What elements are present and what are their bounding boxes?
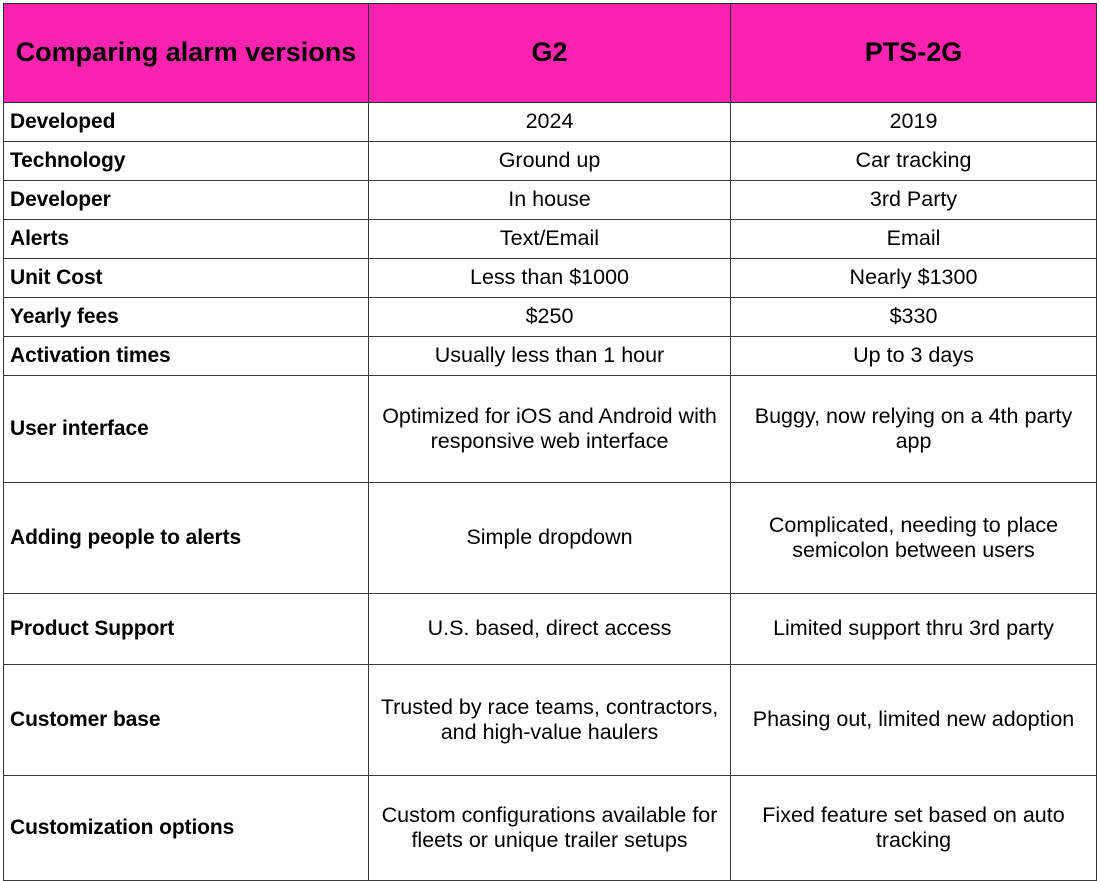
table-row: User interface Optimized for iOS and And… xyxy=(4,376,1097,483)
feature-label-activation-times: Activation times xyxy=(4,337,369,376)
table-row: Product Support U.S. based, direct acces… xyxy=(4,594,1097,665)
table-row: Adding people to alerts Simple dropdown … xyxy=(4,483,1097,594)
header-cell-pts-2g: PTS-2G xyxy=(731,4,1097,103)
value-pts-customer-base: Phasing out, limited new adoption xyxy=(731,665,1097,776)
value-g2-technology: Ground up xyxy=(369,142,731,181)
header-cell-g2: G2 xyxy=(369,4,731,103)
table-row: Unit Cost Less than $1000 Nearly $1300 xyxy=(4,259,1097,298)
table-row: Developer In house 3rd Party xyxy=(4,181,1097,220)
table-body: Developed 2024 2019 Technology Ground up… xyxy=(4,103,1097,881)
value-pts-activation-times: Up to 3 days xyxy=(731,337,1097,376)
header-cell-feature: Comparing alarm versions xyxy=(4,4,369,103)
value-g2-yearly-fees: $250 xyxy=(369,298,731,337)
value-pts-technology: Car tracking xyxy=(731,142,1097,181)
value-g2-adding-people-to-alerts: Simple dropdown xyxy=(369,483,731,594)
value-g2-customer-base: Trusted by race teams, contractors, and … xyxy=(369,665,731,776)
feature-label-yearly-fees: Yearly fees xyxy=(4,298,369,337)
table-row: Activation times Usually less than 1 hou… xyxy=(4,337,1097,376)
table-row: Technology Ground up Car tracking xyxy=(4,142,1097,181)
value-g2-customization-options: Custom configurations available for flee… xyxy=(369,776,731,881)
table-row: Alerts Text/Email Email xyxy=(4,220,1097,259)
value-pts-developed: 2019 xyxy=(731,103,1097,142)
feature-label-technology: Technology xyxy=(4,142,369,181)
table-row: Developed 2024 2019 xyxy=(4,103,1097,142)
table-header: Comparing alarm versions G2 PTS-2G xyxy=(4,4,1097,103)
spreadsheet-canvas: Comparing alarm versions G2 PTS-2G Devel… xyxy=(0,0,1100,849)
feature-label-developer: Developer xyxy=(4,181,369,220)
feature-label-unit-cost: Unit Cost xyxy=(4,259,369,298)
table-row: Yearly fees $250 $330 xyxy=(4,298,1097,337)
value-pts-yearly-fees: $330 xyxy=(731,298,1097,337)
feature-label-product-support: Product Support xyxy=(4,594,369,665)
value-g2-user-interface: Optimized for iOS and Android with respo… xyxy=(369,376,731,483)
value-pts-unit-cost: Nearly $1300 xyxy=(731,259,1097,298)
value-pts-alerts: Email xyxy=(731,220,1097,259)
table-row: Customer base Trusted by race teams, con… xyxy=(4,665,1097,776)
value-g2-alerts: Text/Email xyxy=(369,220,731,259)
value-g2-product-support: U.S. based, direct access xyxy=(369,594,731,665)
value-g2-activation-times: Usually less than 1 hour xyxy=(369,337,731,376)
table-row: Customization options Custom configurati… xyxy=(4,776,1097,881)
alarm-version-comparison-table: Comparing alarm versions G2 PTS-2G Devel… xyxy=(3,3,1097,881)
feature-label-developed: Developed xyxy=(4,103,369,142)
feature-label-alerts: Alerts xyxy=(4,220,369,259)
feature-label-customer-base: Customer base xyxy=(4,665,369,776)
value-pts-user-interface: Buggy, now relying on a 4th party app xyxy=(731,376,1097,483)
feature-label-adding-people-to-alerts: Adding people to alerts xyxy=(4,483,369,594)
header-row: Comparing alarm versions G2 PTS-2G xyxy=(4,4,1097,103)
feature-label-user-interface: User interface xyxy=(4,376,369,483)
value-g2-developer: In house xyxy=(369,181,731,220)
feature-label-customization-options: Customization options xyxy=(4,776,369,881)
value-pts-product-support: Limited support thru 3rd party xyxy=(731,594,1097,665)
value-pts-customization-options: Fixed feature set based on auto tracking xyxy=(731,776,1097,881)
value-pts-adding-people-to-alerts: Complicated, needing to place semicolon … xyxy=(731,483,1097,594)
value-g2-unit-cost: Less than $1000 xyxy=(369,259,731,298)
value-g2-developed: 2024 xyxy=(369,103,731,142)
value-pts-developer: 3rd Party xyxy=(731,181,1097,220)
